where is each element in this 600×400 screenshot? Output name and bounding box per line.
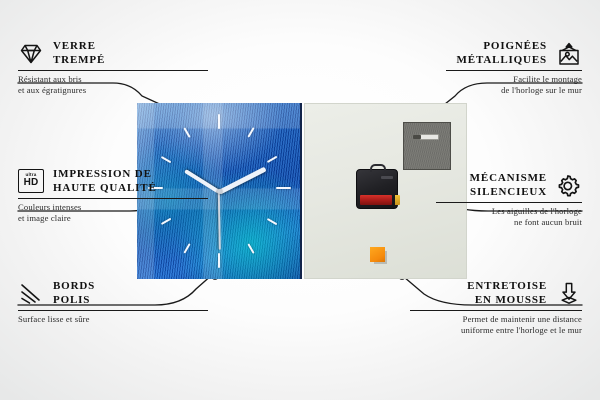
callout-silent-mechanism: MÉCANISME SILENCIEUX Les aiguilles de l'… [392, 172, 582, 228]
callout-title-line1: IMPRESSION DE [53, 168, 152, 180]
gear-icon [556, 173, 582, 199]
callout-polished-edges: BORDS POLIS Surface lisse et sûre [18, 280, 208, 325]
clock-second-hand [218, 192, 221, 250]
ultra-hd-icon: ultra HD [18, 169, 44, 195]
callout-desc-line1: Permet de maintenir une distance [463, 314, 582, 324]
polished-edges-icon [18, 281, 44, 307]
callout-title-line2: TREMPÉ [53, 54, 105, 66]
callout-title-line2: HAUTE QUALITÉ [53, 182, 157, 194]
clock-center-cap [217, 189, 222, 194]
clock-tick-7 [183, 243, 191, 254]
callout-metal-handles: POIGNÉES MÉTALLIQUES Facilite le montage… [392, 40, 582, 96]
mechanism-hanger-loop [370, 164, 386, 172]
clock-tick-4 [267, 218, 278, 226]
callout-rule [446, 70, 582, 71]
picture-frame-hook-icon [556, 41, 582, 67]
clock-minute-hand [218, 167, 266, 195]
clock-tick-11 [183, 127, 191, 138]
callout-desc-line2: ne font aucun bruit [514, 217, 582, 227]
callout-desc-line2: et aux égratignures [18, 85, 86, 95]
callout-title-line2: POLIS [53, 294, 90, 306]
hanger-slot [420, 134, 439, 140]
clock-tick-1 [247, 127, 255, 138]
clock-tick-5 [247, 243, 255, 254]
callout-desc-line1: Surface lisse et sûre [18, 314, 90, 324]
clock-tick-6 [218, 253, 220, 268]
callout-desc-line1: Résistant aux bris [18, 74, 82, 84]
clock-tick-12 [218, 114, 220, 129]
clock-tick-2 [267, 156, 278, 164]
callout-hd-print: ultra HD IMPRESSION DE HAUTE QUALITÉ Cou… [18, 168, 208, 224]
callout-title-line1: VERRE [53, 40, 96, 52]
callout-desc-line2: uniforme entre l'horloge et le mur [461, 325, 582, 335]
ultra-hd-icon-main-label: HD [24, 178, 39, 188]
callout-rule [18, 198, 208, 199]
callout-title-line1: ENTRETOISE [467, 280, 547, 292]
callout-desc-line1: Facilite le montage [513, 74, 582, 84]
callout-title-line1: POIGNÉES [483, 40, 547, 52]
callout-desc-line2: de l'horloge sur le mur [501, 85, 582, 95]
callout-rule [18, 310, 208, 311]
callout-rule [436, 202, 582, 203]
diamond-icon [18, 41, 44, 67]
callout-rule [18, 70, 208, 71]
aa-battery [360, 195, 392, 205]
callout-rule [410, 310, 582, 311]
callout-title-line1: MÉCANISME [470, 172, 547, 184]
callout-desc-line1: Les aiguilles de l'horloge [492, 206, 582, 216]
metal-hanger-plate [403, 122, 451, 170]
clock-tick-10 [161, 156, 172, 164]
callout-tempered-glass: VERRE TREMPÉ Résistant aux bris et aux é… [18, 40, 208, 96]
callout-title-line2: MÉTALLIQUES [457, 54, 547, 66]
callout-title-line1: BORDS [53, 280, 95, 292]
callout-desc-line1: Couleurs intenses [18, 202, 81, 212]
callout-title-line2: SILENCIEUX [470, 186, 547, 198]
down-arrow-plate-icon [556, 281, 582, 307]
hanger-slot-secondary [413, 135, 421, 139]
callout-desc-line2: et image claire [18, 213, 71, 223]
orange-foam-spacer [370, 247, 385, 262]
callout-title-line2: EN MOUSSE [475, 294, 547, 306]
clock-tick-3 [276, 187, 291, 189]
callout-foam-spacer: ENTRETOISE EN MOUSSE Permet de maintenir… [392, 280, 582, 336]
